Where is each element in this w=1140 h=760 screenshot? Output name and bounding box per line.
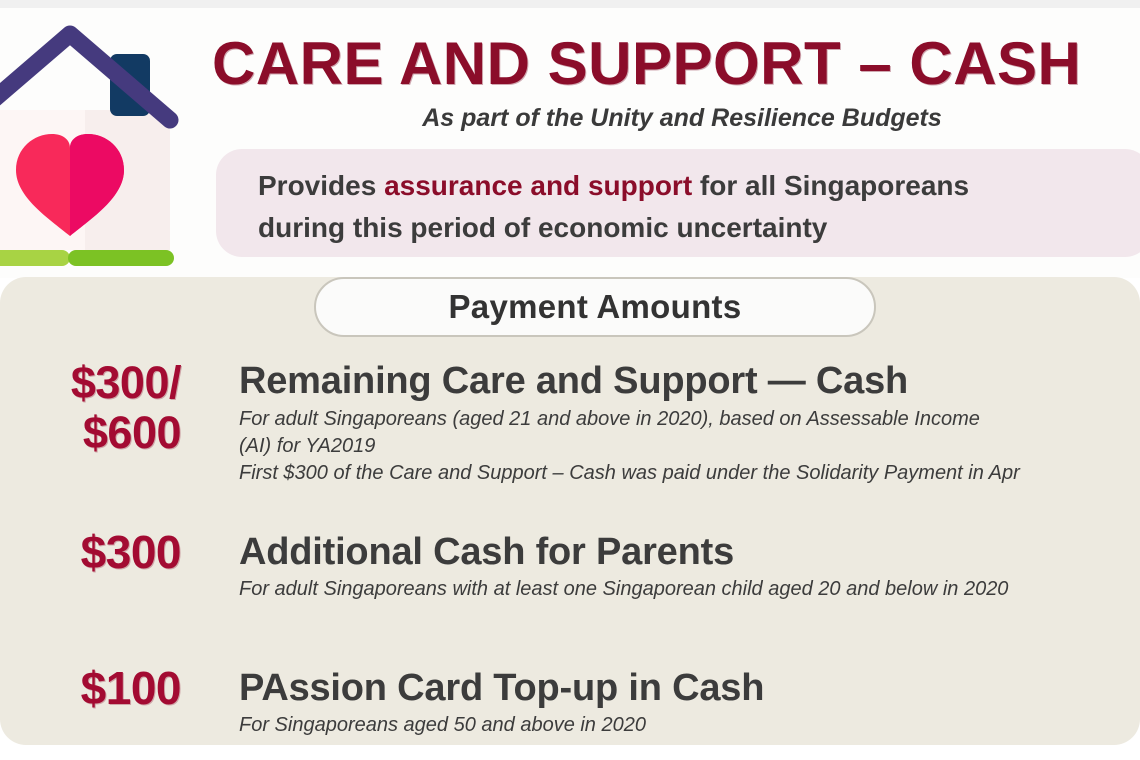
payment-title: PAssion Card Top-up in Cash <box>239 665 1140 711</box>
house-with-heart-logo <box>0 22 197 270</box>
payment-title: Remaining Care and Support — Cash <box>239 358 1140 404</box>
top-strip <box>0 0 1140 8</box>
payment-note: For adult Singaporeans (aged 21 and abov… <box>239 406 1140 433</box>
description-text-before: Provides <box>258 170 384 201</box>
payment-amount: $300 <box>0 529 195 575</box>
description-highlight: assurance and support <box>384 170 692 201</box>
payment-body: Remaining Care and Support — Cash For ad… <box>195 358 1140 487</box>
payment-body: Additional Cash for Parents For adult Si… <box>195 529 1140 603</box>
payment-amount-line: $600 <box>0 408 181 458</box>
description-line-1: Provides assurance and support for all S… <box>258 165 1140 207</box>
payment-row: $300/ $600 Remaining Care and Support — … <box>0 358 1140 487</box>
payment-note: (AI) for YA2019 <box>239 433 1140 460</box>
infographic-page: CARE AND SUPPORT – CASH As part of the U… <box>0 0 1140 760</box>
payment-title: Additional Cash for Parents <box>239 529 1140 575</box>
description-line-2: during this period of economic uncertain… <box>258 207 1140 249</box>
header-section: CARE AND SUPPORT – CASH As part of the U… <box>0 8 1140 278</box>
payment-amounts-pill: Payment Amounts <box>314 277 876 337</box>
payment-amount: $300/ $600 <box>0 358 195 458</box>
page-title: CARE AND SUPPORT – CASH <box>212 26 1140 102</box>
payment-rows: $300/ $600 Remaining Care and Support — … <box>0 358 1140 739</box>
payment-row: $300 Additional Cash for Parents For adu… <box>0 529 1140 603</box>
payment-amount: $100 <box>0 665 195 711</box>
payment-body: PAssion Card Top-up in Cash For Singapor… <box>195 665 1140 739</box>
payment-note: First $300 of the Care and Support – Cas… <box>239 460 1140 487</box>
payment-amount-line: $300/ <box>0 358 181 408</box>
description-text-after: for all Singaporeans <box>692 170 969 201</box>
payment-amounts-label: Payment Amounts <box>449 288 742 326</box>
payment-amount-line: $100 <box>0 665 181 711</box>
page-subtitle: As part of the Unity and Resilience Budg… <box>212 104 1140 133</box>
payment-row: $100 PAssion Card Top-up in Cash For Sin… <box>0 665 1140 739</box>
payment-amount-line: $300 <box>0 529 181 575</box>
payment-note: For adult Singaporeans with at least one… <box>239 576 1140 603</box>
payment-note: For Singaporeans aged 50 and above in 20… <box>239 712 1140 739</box>
description-box: Provides assurance and support for all S… <box>216 149 1140 257</box>
